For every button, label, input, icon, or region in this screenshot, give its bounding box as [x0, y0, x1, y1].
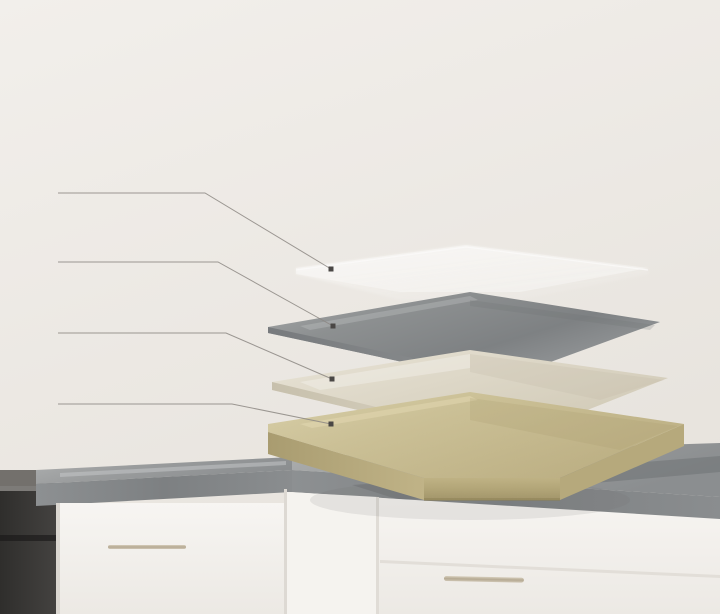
square-dot-icon — [329, 267, 334, 272]
square-dot-icon — [331, 324, 336, 329]
leader-melamine-top-layer — [58, 193, 334, 272]
leader-decorative-print-layer — [58, 262, 336, 329]
square-dot-icon — [330, 377, 335, 382]
leader-core-substrate-material — [58, 404, 334, 427]
leader-phenolic-kraft-papers — [58, 333, 335, 382]
square-dot-icon — [329, 422, 334, 427]
laminate-countertop-infographic: Laminate Countertop Detail Transparent M… — [0, 0, 720, 614]
callout-leader-lines — [0, 0, 720, 614]
